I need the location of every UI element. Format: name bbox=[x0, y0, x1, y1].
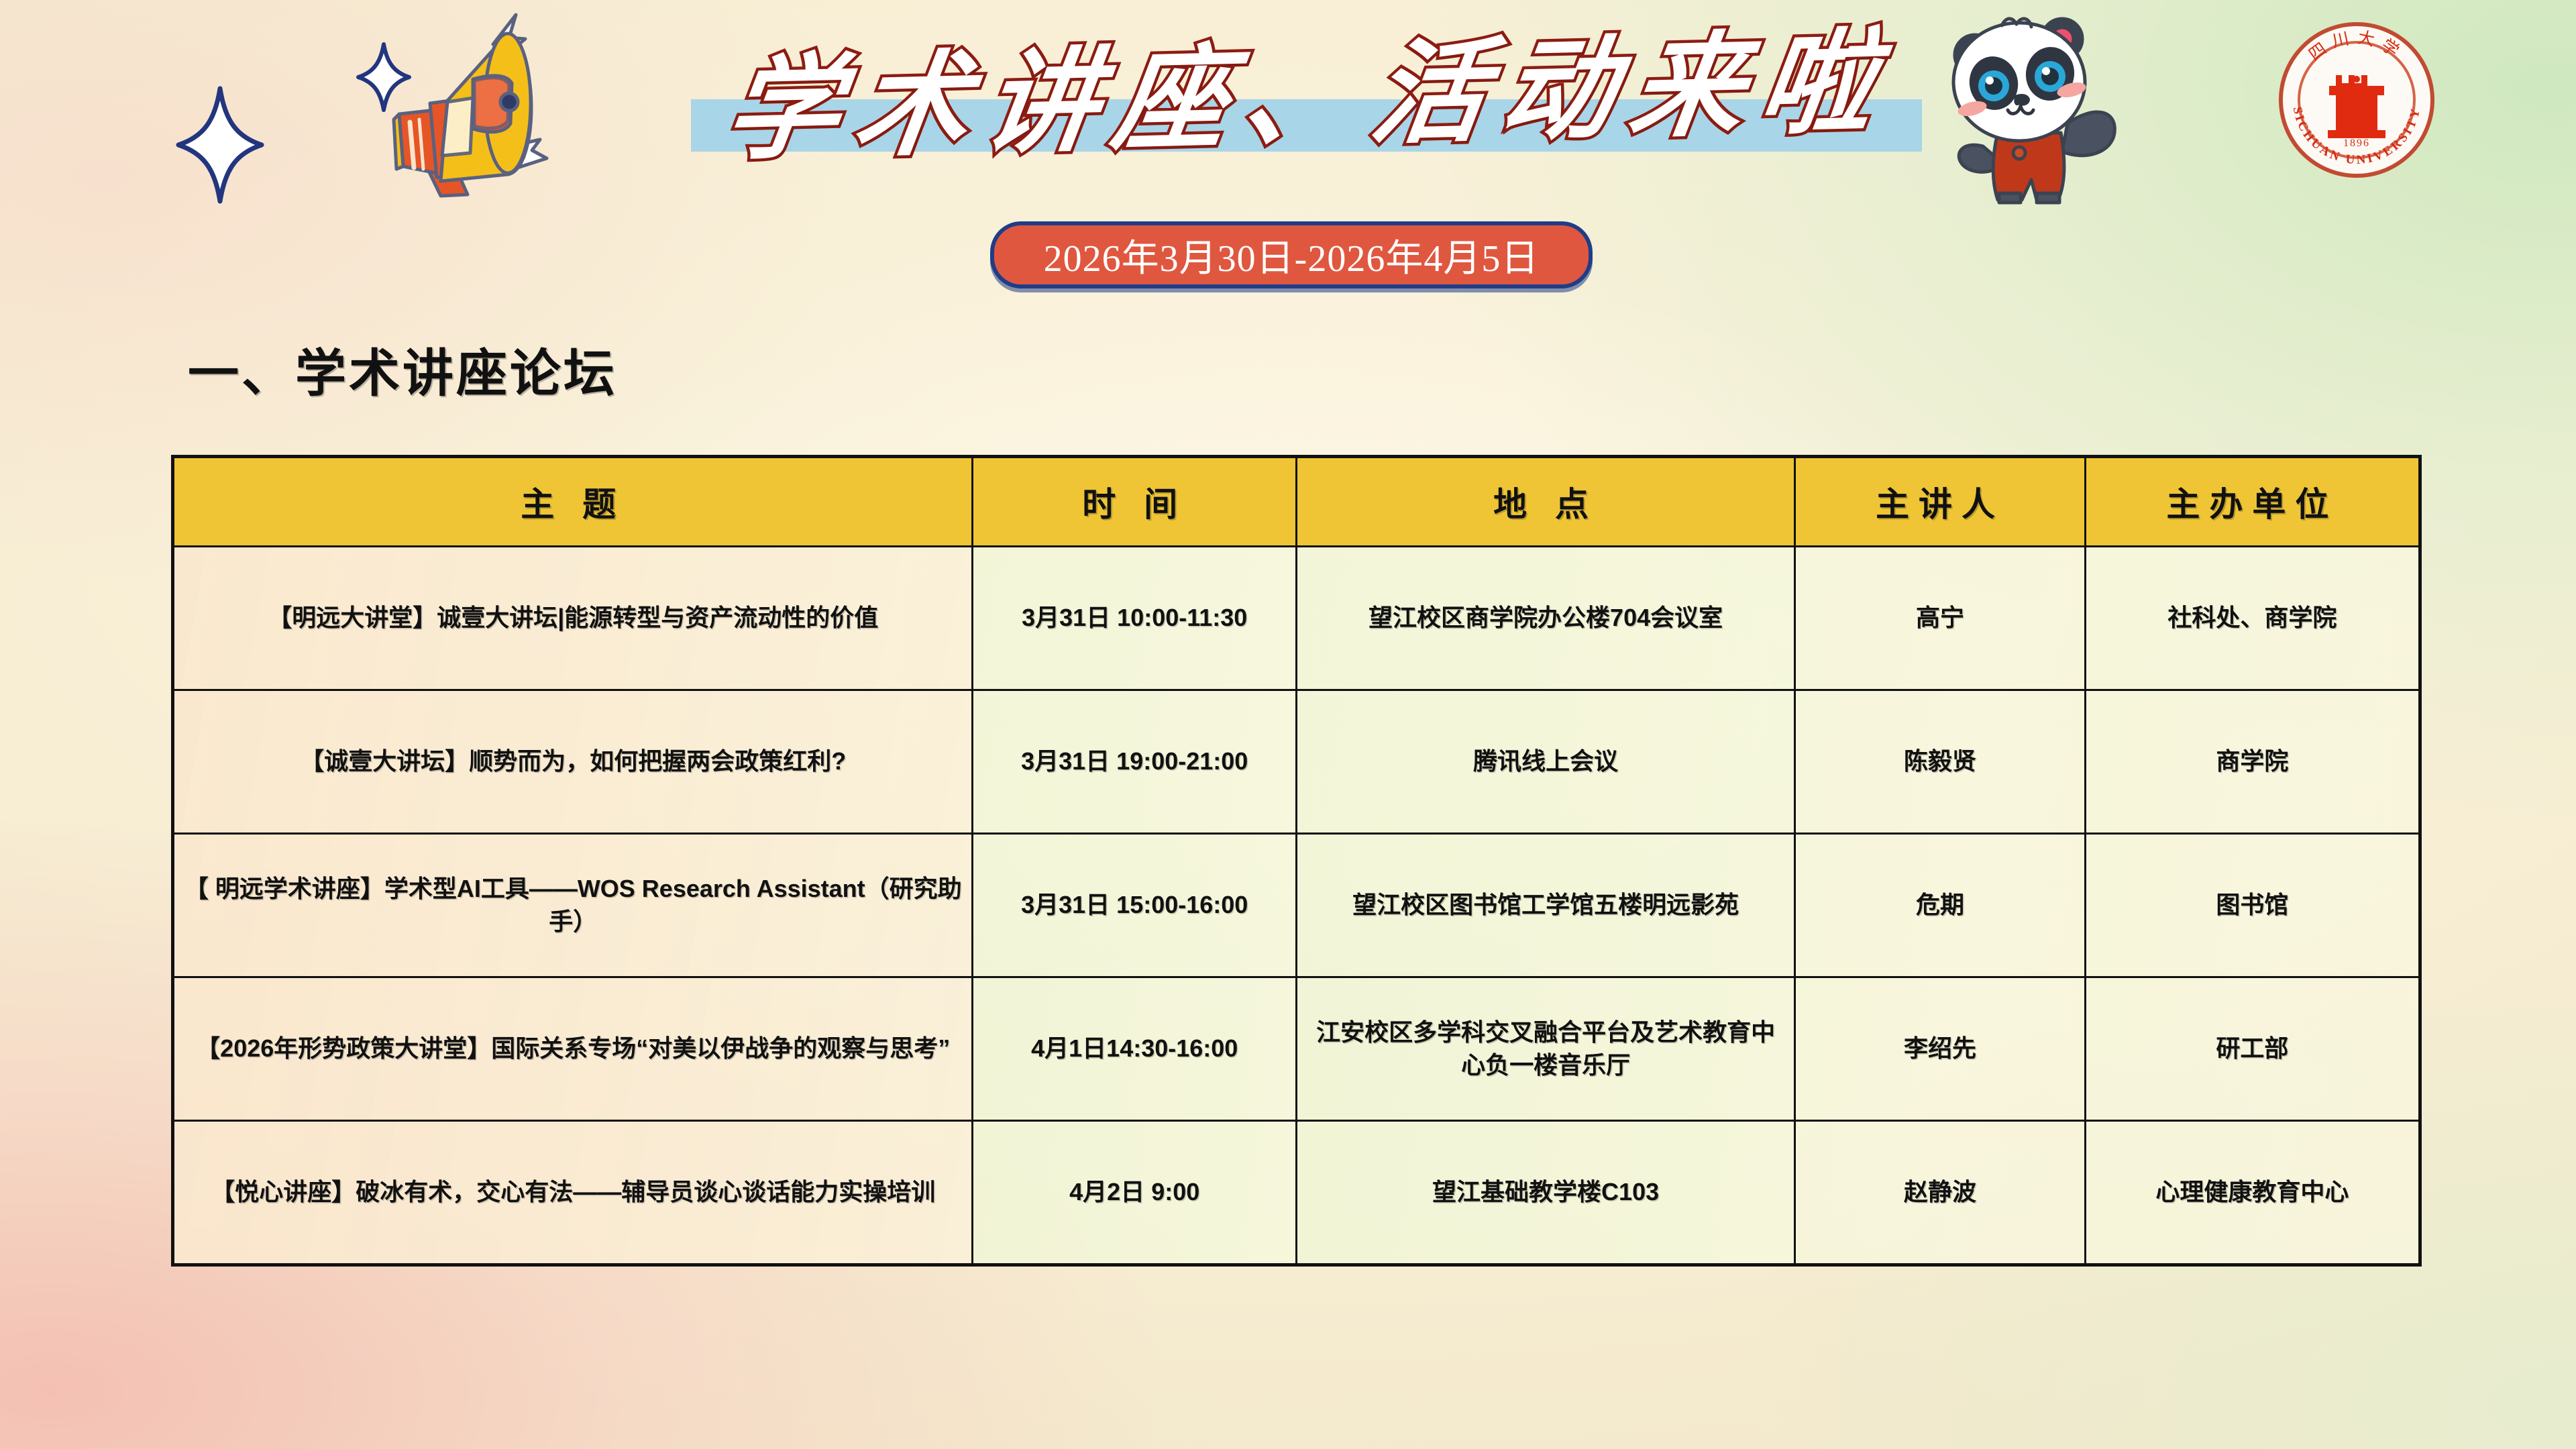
cell-place: 江安校区多学科交叉融合平台及艺术教育中心负一楼音乐厅 bbox=[1296, 977, 1794, 1121]
cell-time: 4月1日14:30-16:00 bbox=[973, 977, 1297, 1121]
cell-org: 图书馆 bbox=[2085, 834, 2420, 977]
sichuan-university-logo-icon: 四川大学 SICHUAN UNIVERSITY 1896 bbox=[2275, 19, 2438, 181]
table-row: 【2026年形势政策大讲堂】国际关系专场“对美以伊战争的观察与思考” 4月1日1… bbox=[173, 977, 2420, 1121]
logo-founding-year: 1896 bbox=[2343, 138, 2370, 149]
date-range-text: 2026年3月30日-2026年4月5日 bbox=[1044, 228, 1540, 282]
cell-place: 望江校区图书馆工学馆五楼明远影苑 bbox=[1296, 834, 1794, 977]
column-header-place: 地 点 bbox=[1296, 457, 1794, 547]
poster-title-block: 学术讲座、活动来啦 bbox=[657, 13, 1959, 208]
date-range-badge: 2026年3月30日-2026年4月5日 bbox=[990, 221, 1593, 288]
cell-topic: 【 明远学术讲座】学术型AI工具——WOS Research Assistant… bbox=[173, 834, 973, 977]
cell-speaker: 高宁 bbox=[1795, 547, 2086, 690]
table-row: 【悦心讲座】破冰有术，交心有法——辅导员谈心谈话能力实操培训 4月2日 9:00… bbox=[173, 1121, 2420, 1265]
column-header-speaker: 主讲人 bbox=[1795, 457, 2086, 547]
cell-place: 腾讯线上会议 bbox=[1296, 690, 1794, 834]
column-header-time: 时 间 bbox=[973, 457, 1297, 547]
cell-org: 社科处、商学院 bbox=[2085, 547, 2420, 690]
cell-speaker: 危期 bbox=[1795, 834, 2086, 977]
cell-topic: 【悦心讲座】破冰有术，交心有法——辅导员谈心谈话能力实操培训 bbox=[173, 1121, 973, 1265]
cell-time: 4月2日 9:00 bbox=[973, 1121, 1297, 1265]
megaphone-icon bbox=[272, 1, 574, 199]
cell-place: 望江基础教学楼C103 bbox=[1296, 1121, 1794, 1265]
cell-org: 心理健康教育中心 bbox=[2085, 1121, 2420, 1265]
cell-time: 3月31日 15:00-16:00 bbox=[973, 834, 1297, 977]
cell-topic: 【明远大讲堂】诚壹大讲坛|能源转型与资产流动性的价值 bbox=[173, 547, 973, 690]
lecture-schedule-table: 主 题 时 间 地 点 主讲人 主办单位 【明远大讲堂】诚壹大讲坛|能源转型与资… bbox=[171, 455, 2422, 1267]
cell-topic: 【诚壹大讲坛】顺势而为，如何把握两会政策红利? bbox=[173, 690, 973, 834]
cell-speaker: 李绍先 bbox=[1795, 977, 2086, 1121]
table-row: 【诚壹大讲坛】顺势而为，如何把握两会政策红利? 3月31日 19:00-21:0… bbox=[173, 690, 2420, 834]
table-row: 【明远大讲堂】诚壹大讲坛|能源转型与资产流动性的价值 3月31日 10:00-1… bbox=[173, 547, 2420, 690]
section-heading: 一、学术讲座论坛 bbox=[188, 332, 617, 406]
column-header-topic: 主 题 bbox=[173, 457, 973, 547]
cell-place: 望江校区商学院办公楼704会议室 bbox=[1296, 547, 1794, 690]
page-title: 学术讲座、活动来啦 bbox=[644, 0, 1972, 197]
cell-speaker: 赵静波 bbox=[1795, 1121, 2086, 1265]
table-header-row: 主 题 时 间 地 点 主讲人 主办单位 bbox=[173, 457, 2420, 547]
column-header-org: 主办单位 bbox=[2085, 457, 2420, 547]
table-row: 【 明远学术讲座】学术型AI工具——WOS Research Assistant… bbox=[173, 834, 2420, 977]
cell-time: 3月31日 19:00-21:00 bbox=[973, 690, 1297, 834]
sparkle-star-icon bbox=[176, 86, 264, 204]
cell-time: 3月31日 10:00-11:30 bbox=[973, 547, 1297, 690]
cell-org: 研工部 bbox=[2085, 977, 2420, 1121]
cell-speaker: 陈毅贤 bbox=[1795, 690, 2086, 834]
cell-org: 商学院 bbox=[2085, 690, 2420, 834]
cell-topic: 【2026年形势政策大讲堂】国际关系专场“对美以伊战争的观察与思考” bbox=[173, 977, 973, 1121]
